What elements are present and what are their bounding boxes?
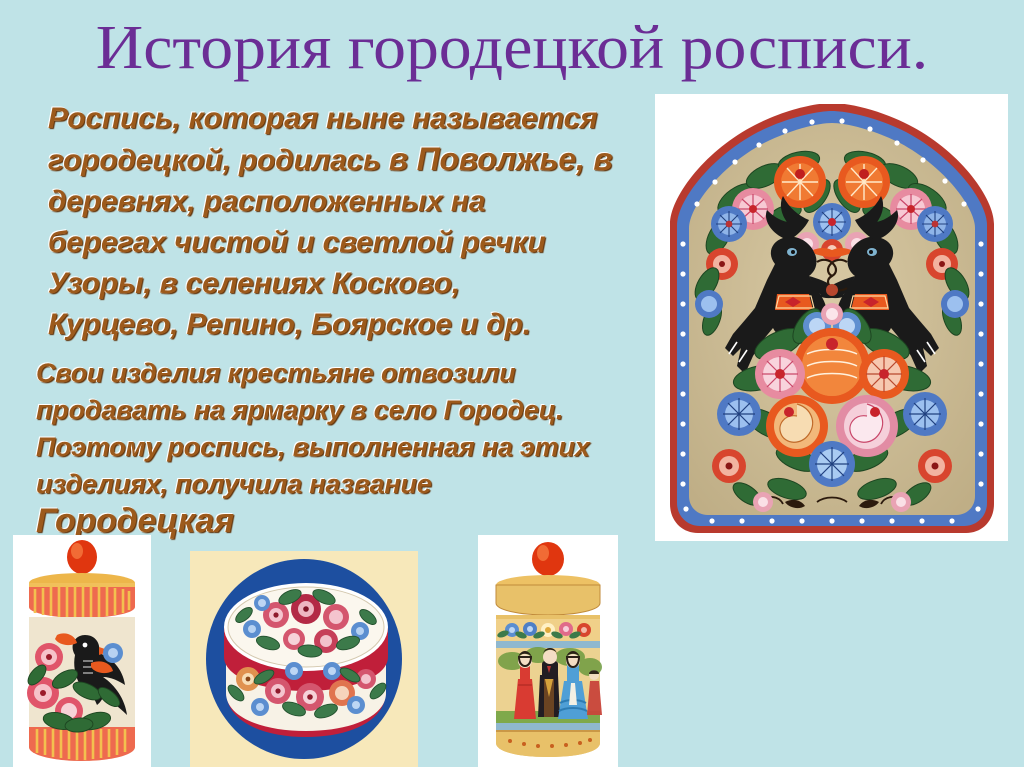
board-svg <box>667 104 997 534</box>
board-illustration <box>667 104 997 534</box>
flower-blue-bottom-center <box>809 441 855 487</box>
p1-line-5: Узоры, в селениях Косково, <box>28 263 648 304</box>
flower-blue-upper-right <box>917 206 953 242</box>
p2-line-2: продавать на ярмарку в село Городец. <box>36 392 648 429</box>
flower-center-pink-right <box>859 349 909 399</box>
jar2-base <box>496 730 600 757</box>
p1-line-4: берегах чистой и светлой речки <box>28 222 648 263</box>
box-illustration <box>224 583 389 737</box>
center-bud <box>826 284 838 296</box>
jar2-lid-side <box>496 585 600 615</box>
box-svg <box>190 551 418 767</box>
p2-line-3: Поэтому роспись, выполненная на этих <box>36 429 648 466</box>
jar-people-svg <box>478 535 618 767</box>
image-jar-with-figures <box>478 535 618 767</box>
flower-red-bottom-right <box>918 449 952 483</box>
flower-blue-mid-right <box>941 290 969 318</box>
p2-line-1: Свои изделия крестьяне отвозили <box>36 355 648 392</box>
flower-blue-upper-left <box>711 206 747 242</box>
p1-line-3: деревнях, расположенных на <box>28 181 648 222</box>
flower-red-bottom-left <box>712 449 746 483</box>
paragraph-1: Роспись, которая ныне называется городец… <box>28 98 648 345</box>
flower-blue-lower-right <box>903 392 947 436</box>
p2-line-4: изделиях, получила название <box>36 466 648 503</box>
flower-blue-center-top <box>813 203 851 241</box>
jar-bird-svg <box>13 535 151 767</box>
image-jar-with-bird <box>13 535 151 767</box>
p1-line-1: Роспись, которая ныне называется <box>28 98 648 139</box>
p1-line-2a: городецкой, родилась <box>48 144 389 177</box>
text-column: Роспись, которая ныне называется городец… <box>28 98 648 577</box>
page-title: История городецкой росписи. <box>0 14 1024 82</box>
image-gorodets-board <box>655 94 1008 541</box>
image-oval-box <box>190 551 418 767</box>
jar2-stripe-bottom <box>496 723 600 730</box>
flower-center-large <box>794 328 870 404</box>
flower-blue-mid-left <box>695 290 723 318</box>
jar-knob <box>67 540 97 574</box>
jar2-stripe-top <box>496 641 600 648</box>
flower-center-pink-left <box>755 349 805 399</box>
p1-line-2b: в Поволжье, в <box>389 141 613 177</box>
flower-blue-lower-left <box>717 392 761 436</box>
p1-line-6: Курцево, Репино, Боярское и др. <box>28 304 648 345</box>
jar2-knob <box>532 542 564 576</box>
slide-root: История городецкой росписи. Роспись, кот… <box>0 0 1024 767</box>
